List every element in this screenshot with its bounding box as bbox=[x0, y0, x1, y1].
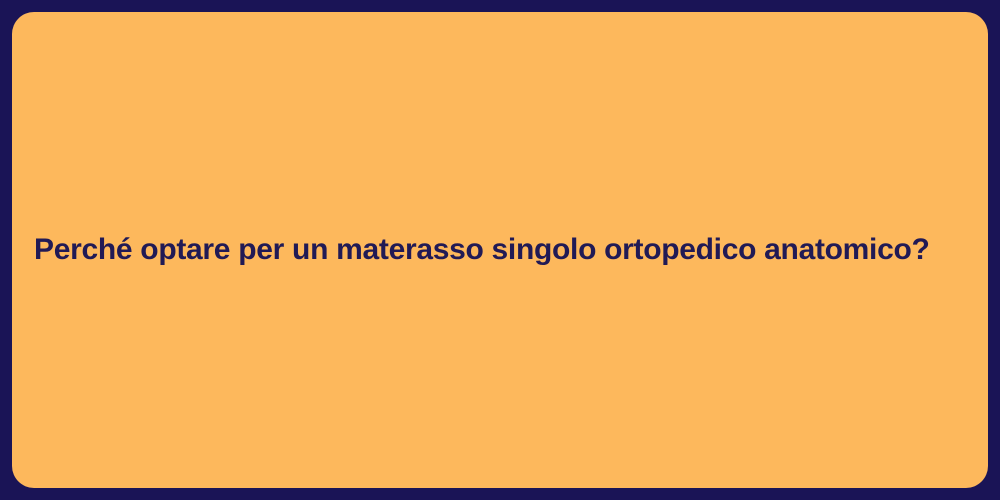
content-card: Perché optare per un materasso singolo o… bbox=[12, 12, 988, 488]
page-title: Perché optare per un materasso singolo o… bbox=[12, 232, 988, 268]
